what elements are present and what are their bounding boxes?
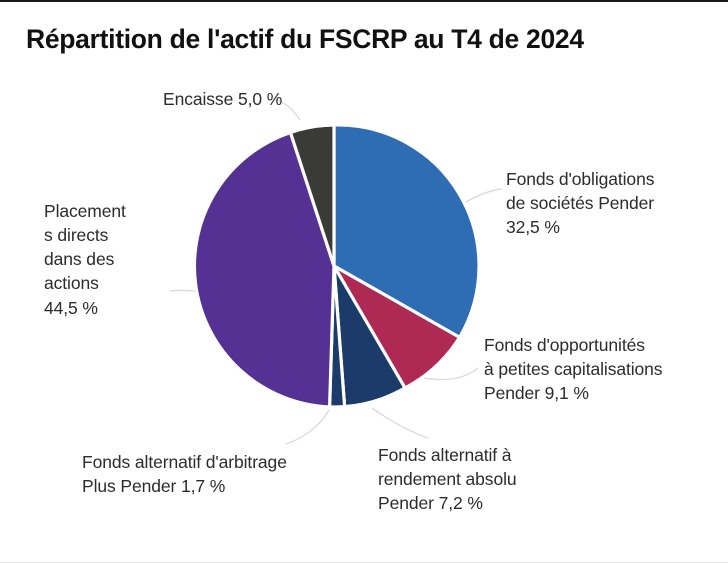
pie-slices: [194, 125, 479, 407]
pie-label-fonds-obligations-societes-pender: Fonds d'obligations de sociétés Pender 3…: [506, 167, 714, 239]
pie-label-fonds-alternatif-rendement-absolu-pender: Fonds alternatif à rendement absolu Pend…: [378, 443, 578, 515]
leader-line-arbitrage: [286, 410, 329, 444]
pie-label-placements-directs-dans-des-actions: Placement s directs dans des actions 44,…: [44, 199, 162, 320]
pie-label-encaisse: Encaisse 5,0 %: [163, 87, 393, 111]
pie-label-fonds-opportunites-petites-capitalisations-pender: Fonds d'opportunités à petites capitalis…: [484, 333, 718, 405]
leader-line-absolu: [372, 408, 428, 438]
pie-label-fonds-alternatif-arbitrage-plus-pender: Fonds alternatif d'arbitrage Plus Pender…: [82, 450, 362, 498]
leader-line-obligations: [466, 189, 502, 202]
chart-page: Répartition de l'actif du FSCRP au T4 de…: [0, 0, 728, 563]
